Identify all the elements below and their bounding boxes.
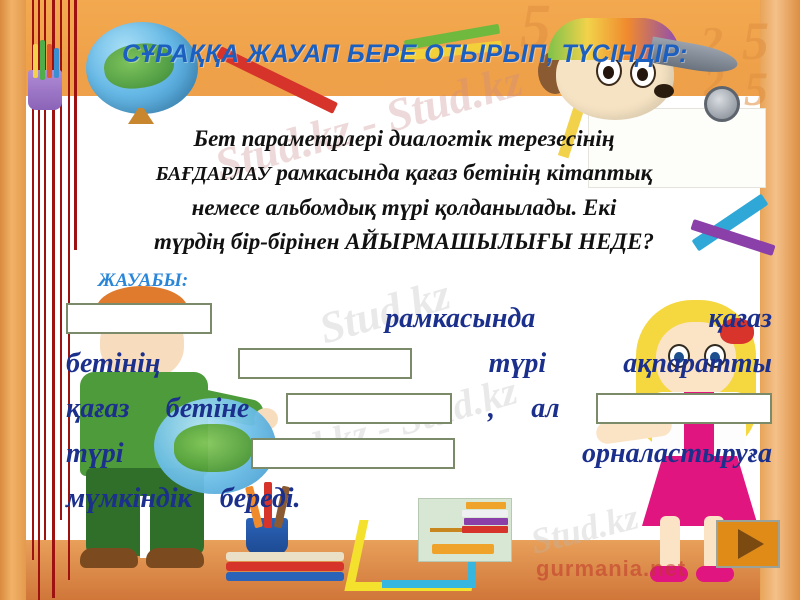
answer-line-4: түрі орналастыруға	[66, 431, 772, 476]
answer-comma: ,	[488, 386, 495, 431]
answer-label: ЖАУАБЫ:	[98, 270, 188, 292]
answer-line-5: мүмкіндік береді.	[66, 476, 772, 521]
answer-word-al: ал	[531, 386, 559, 431]
clock-icon	[704, 86, 740, 122]
question-part-5: түрдің бір-бірінен АЙЫРМАШЫЛЫҒЫ НЕДЕ?	[154, 229, 654, 254]
boy-shoe-left	[80, 548, 138, 568]
question-text: Бет параметрлері диалогтік терезесінің Б…	[72, 122, 736, 259]
presentation-slide: 5 2 5 2 5	[0, 0, 800, 600]
answer-word-ramkasynda: рамкасында	[385, 296, 535, 341]
scale-base	[432, 544, 494, 554]
answer-word-betinin: бетінің	[66, 341, 160, 386]
girl-shoe-right	[696, 566, 734, 582]
question-part-3: рамкасында қағаз бетінің кітаптық	[276, 160, 652, 185]
answer-body: рамкасында қағаз бетінің түрі ақпаратты …	[66, 296, 772, 521]
answer-line-2: бетінің түрі ақпаратты	[66, 341, 772, 386]
answer-word-aqparatty: ақпаратты	[623, 341, 772, 386]
blank-1[interactable]	[66, 303, 212, 334]
answer-word-turi-1: түрі	[489, 341, 547, 386]
books-icon	[226, 552, 344, 580]
boy-shoe-right	[146, 548, 204, 568]
watermark-bottom: gurmania.net	[536, 556, 686, 582]
answer-word-ornalastyruga: орналастыруға	[582, 431, 772, 476]
next-slide-button[interactable]	[716, 520, 780, 568]
answer-word-beredi: береді.	[220, 476, 301, 521]
blank-3[interactable]	[286, 393, 452, 424]
blank-5[interactable]	[251, 438, 455, 469]
play-triangle-icon	[738, 529, 764, 559]
question-part-2: БАҒДАРЛАУ	[156, 163, 271, 185]
answer-line-3: қағаз бетіне , ал	[66, 386, 772, 431]
answer-line-1: рамкасында қағаз	[66, 296, 772, 341]
answer-word-qagaz-2: қағаз	[66, 386, 129, 431]
blank-4[interactable]	[596, 393, 772, 424]
dog-nose	[654, 84, 674, 98]
scale-book-4	[462, 526, 508, 533]
question-part-4: немесе альбомдық түрі қолданылады. Екі	[192, 195, 617, 220]
slide-title: СҰРАҚҚА ЖАУАП БЕРЕ ОТЫРЫП, ТҮСІНДІР:	[120, 38, 690, 70]
answer-word-mumkindik: мүмкіндік	[66, 476, 192, 521]
pencil-cup-icon	[28, 70, 62, 110]
answer-word-qagaz-1: қағаз	[709, 296, 772, 341]
question-part-1: Бет параметрлері диалогтік терезесінің	[193, 126, 614, 151]
answer-word-turi-2: түрі	[66, 431, 124, 476]
blank-2[interactable]	[238, 348, 412, 379]
answer-word-betine: бетіне	[166, 386, 250, 431]
